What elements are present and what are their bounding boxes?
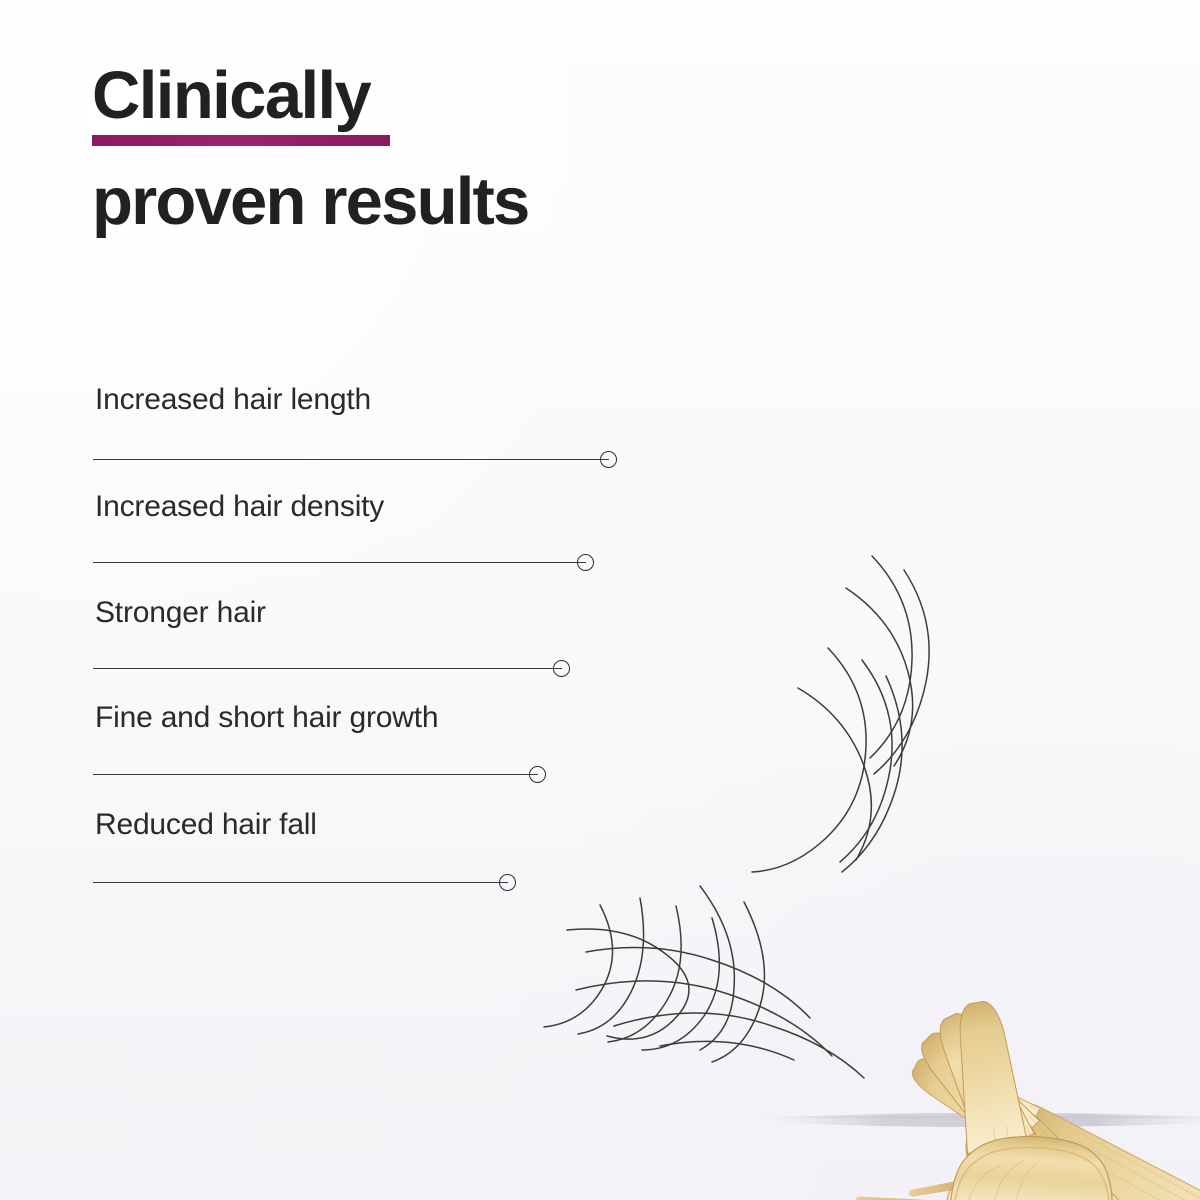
list-item: Increased hair density	[95, 492, 384, 522]
connector-rule	[93, 459, 609, 460]
benefit-label: Increased hair density	[95, 492, 384, 522]
benefit-label: Reduced hair fall	[95, 810, 317, 840]
connector-endpoint-dot	[553, 660, 570, 677]
comb-1-taper	[902, 1047, 1040, 1152]
list-item: Stronger hair	[95, 598, 266, 628]
list-item: Increased hair length	[95, 385, 371, 415]
comb-4-upper	[851, 997, 1103, 1200]
comb-3-teeth	[917, 1186, 1138, 1200]
comb-3-middle	[841, 1004, 1200, 1200]
comb-2-lower-left	[851, 1019, 1200, 1200]
comb-5-teeth	[815, 1194, 952, 1200]
comb-4-taper	[942, 998, 1028, 1153]
comb-shadow	[775, 1113, 1200, 1127]
benefit-label: Fine and short hair growth	[95, 703, 438, 733]
comb-4-body	[958, 1118, 1103, 1200]
connector-endpoint-dot	[499, 874, 516, 891]
comb-5-body	[923, 1181, 1036, 1200]
comb-3-body	[968, 1111, 1200, 1200]
comb-2-teeth	[958, 1171, 1200, 1200]
connector-rule	[93, 562, 586, 563]
connector-endpoint-dot	[577, 554, 594, 571]
connector-rule	[93, 668, 562, 669]
connector-rule	[93, 774, 538, 775]
comb-2-taper	[905, 1022, 1039, 1158]
comb-1-body	[995, 1094, 1200, 1200]
benefit-label: Stronger hair	[95, 598, 266, 628]
benefits-list: Increased hair length Increased hair den…	[0, 0, 700, 1200]
list-item: Reduced hair fall	[95, 810, 317, 840]
connector-endpoint-dot	[600, 451, 617, 468]
connector-rule	[93, 882, 508, 883]
comb-1-teeth	[997, 1159, 1200, 1200]
connector-endpoint-dot	[529, 766, 546, 783]
comb-3-taper	[921, 1006, 1034, 1159]
comb-4-teeth	[881, 1178, 1033, 1200]
benefit-label: Increased hair length	[95, 385, 371, 415]
comb-5-handle-edge	[954, 1143, 1113, 1200]
comb-5-upright-handle	[813, 1106, 1117, 1200]
comb-1-front-lower-left	[868, 1044, 1200, 1200]
list-item: Fine and short hair growth	[95, 703, 438, 733]
comb-5-handle	[950, 1132, 1116, 1200]
promo-banner: Clinically proven results Increased hair…	[0, 0, 1200, 1200]
comb-2-body	[982, 1102, 1200, 1200]
